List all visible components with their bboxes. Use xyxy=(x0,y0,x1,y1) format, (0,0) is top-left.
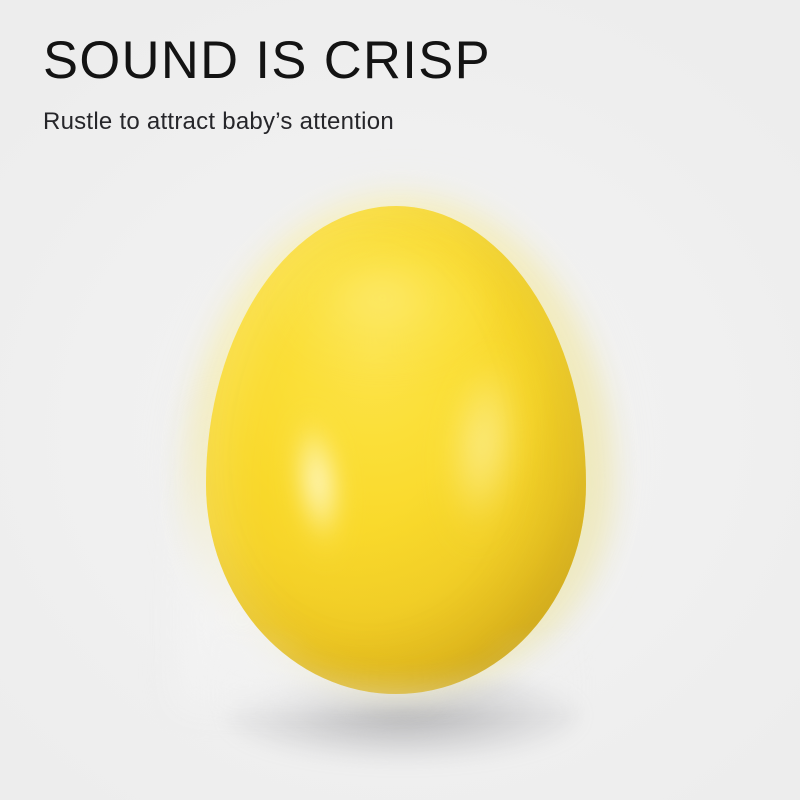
headline: SOUND IS CRISP xyxy=(43,33,736,89)
subheadline: Rustle to attract baby’s attention xyxy=(43,89,743,137)
egg-top-sheen xyxy=(272,238,502,388)
egg-bottom-softfocus xyxy=(214,636,578,710)
caption-block: SOUND IS CRISP Rustle to attract baby’s … xyxy=(43,33,743,136)
product-marketing-image: SOUND IS CRISP Rustle to attract baby’s … xyxy=(0,0,800,800)
